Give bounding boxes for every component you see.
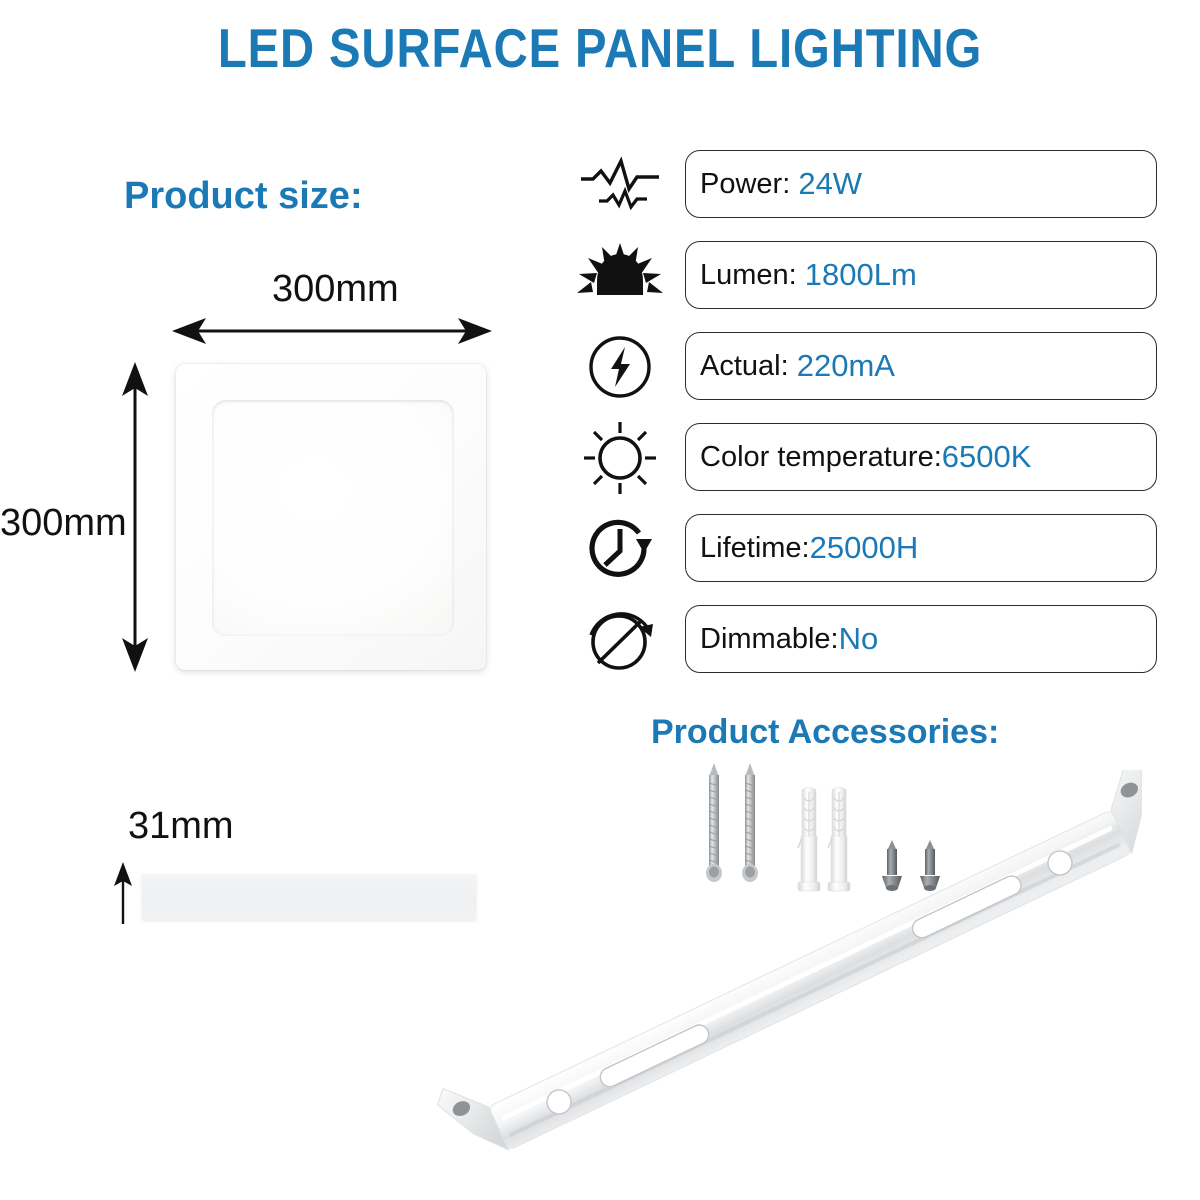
dimension-width-label: 300mm	[272, 268, 399, 311]
spec-box-color-temperature: Color temperature: 6500K	[685, 423, 1157, 491]
spec-box-dimmable: Dimmable: No	[685, 605, 1157, 673]
led-panel-diffuser	[212, 400, 454, 636]
spec-label-actual: Actual:	[700, 350, 797, 383]
spec-label-lumen: Lumen:	[700, 259, 805, 292]
spec-value-power: 24W	[798, 166, 862, 202]
sunburst-icon	[572, 241, 668, 311]
spec-label-color-temperature: Color temperature:	[700, 441, 942, 474]
spec-value-actual: 220mA	[797, 348, 895, 384]
spec-box-actual: Actual: 220mA	[685, 332, 1157, 400]
no-dimmer-icon	[572, 605, 668, 675]
infographic-page: LED SURFACE PANEL LIGHTING Product size:…	[0, 0, 1200, 1200]
page-title: LED SURFACE PANEL LIGHTING	[84, 16, 1116, 80]
waveform-icon	[572, 150, 668, 220]
spec-value-lifetime: 25000H	[810, 530, 919, 566]
bolt-circle-icon	[572, 332, 668, 402]
clock-icon	[572, 514, 668, 584]
spec-label-lifetime: Lifetime:	[700, 532, 810, 565]
accessories-heading: Product Accessories:	[651, 713, 999, 752]
spec-value-lumen: 1800Lm	[805, 257, 917, 293]
led-panel-front-view	[176, 364, 486, 670]
dimension-height-label: 300mm	[0, 502, 127, 545]
spec-label-power: Power:	[700, 168, 798, 201]
spec-box-power: Power: 24W	[685, 150, 1157, 218]
dimension-height-arrow	[122, 362, 148, 672]
product-size-heading: Product size:	[124, 175, 363, 218]
dimension-thickness-label: 31mm	[128, 805, 234, 848]
spec-box-lumen: Lumen: 1800Lm	[685, 241, 1157, 309]
dimension-thickness-arrow	[112, 862, 134, 924]
spec-box-lifetime: Lifetime: 25000H	[685, 514, 1157, 582]
spec-value-dimmable: No	[839, 621, 879, 657]
dimension-width-arrow	[172, 318, 492, 344]
spec-value-color-temperature: 6500K	[942, 439, 1032, 475]
spec-label-dimmable: Dimmable:	[700, 623, 839, 656]
sun-rays-icon	[572, 423, 668, 493]
mounting-bracket-icon	[410, 770, 1200, 1190]
